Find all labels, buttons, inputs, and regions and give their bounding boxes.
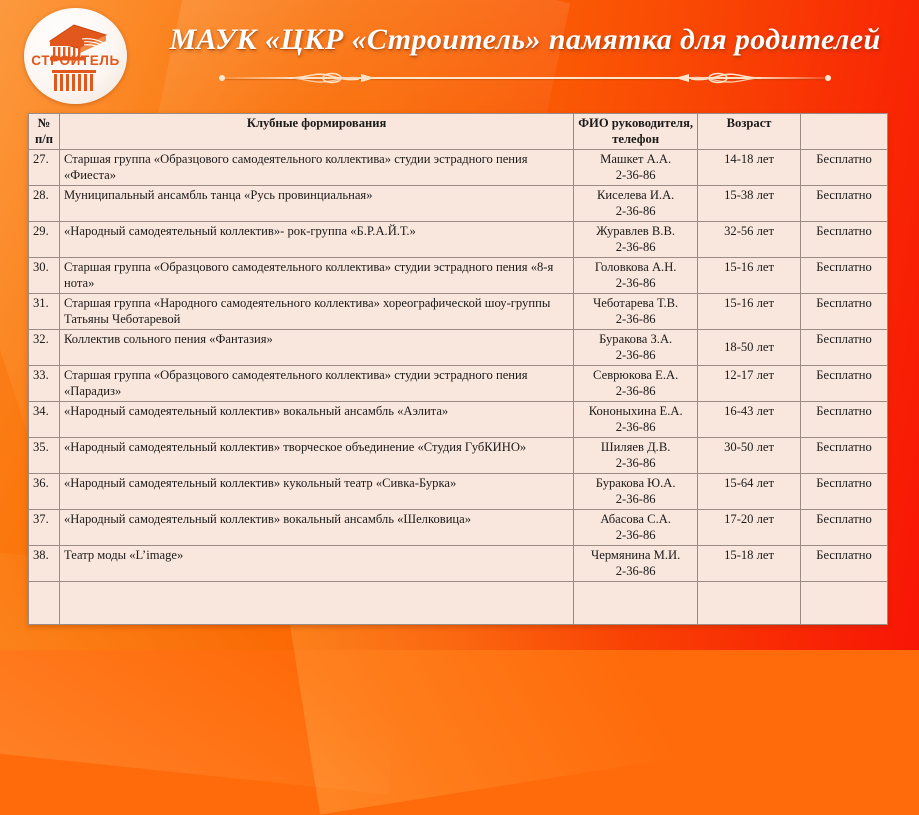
cell-leader: Машкет А.А.2-36-86 [574,150,698,186]
column-header-price [801,114,888,150]
cell-leader: Журавлев В.В.2-36-86 [574,222,698,258]
leader-name: Головкова А.Н. [578,260,693,276]
cell-age-range: 16-43 лет [698,402,801,438]
table-row: 27.Старшая группа «Образцового самодеяте… [29,150,888,186]
cell-club-name: «Народный самодеятельный коллектив» куко… [59,474,573,510]
cell-club-name: Старшая группа «Народного самодеятельног… [59,294,573,330]
table-row: 32.Коллектив сольного пения «Фантазия»Бу… [29,330,888,366]
leader-name: Машкет А.А. [578,152,693,168]
title-block: МАУК «ЦКР «Строитель» памятка для родите… [150,20,900,86]
leader-phone: 2-36-86 [578,456,693,472]
leader-name: Абасова С.А. [578,512,693,528]
table-body: 27.Старшая группа «Образцового самодеяте… [29,150,888,625]
cell-empty [698,582,801,625]
cell-leader: Шиляев Д.В.2-36-86 [574,438,698,474]
table-row: 28.Муниципальный ансамбль танца «Русь пр… [29,186,888,222]
flourish-ornament-right-icon [673,68,763,88]
cell-age-range: 12-17 лет [698,366,801,402]
cell-price-badge: Бесплатно [801,438,888,474]
table-row: 34.«Народный самодеятельный коллектив» в… [29,402,888,438]
table-row: 31.Старшая группа «Народного самодеятель… [29,294,888,330]
cell-club-name: Старшая группа «Образцового самодеятельн… [59,150,573,186]
table-row: 38.Театр моды «L’image»Чермянина М.И.2-3… [29,546,888,582]
cell-number: 33. [29,366,60,402]
cell-price-badge: Бесплатно [801,546,888,582]
column-header-leader-line2: телефон [578,132,693,148]
cell-price-badge: Бесплатно [801,366,888,402]
cell-number: 38. [29,546,60,582]
cell-club-name: Театр моды «L’image» [59,546,573,582]
cell-leader: Севрюкова Е.А.2-36-86 [574,366,698,402]
cell-age-range: 15-18 лет [698,546,801,582]
cell-number: 31. [29,294,60,330]
cell-number: 35. [29,438,60,474]
leader-name: Чеботарева Т.В. [578,296,693,312]
cell-age-range: 30-50 лет [698,438,801,474]
cell-age-range: 15-16 лет [698,294,801,330]
cell-price-badge: Бесплатно [801,474,888,510]
cell-club-name: Старшая группа «Образцового самодеятельн… [59,258,573,294]
slide-header: СТРОИТЕЛЬ МАУК «ЦКР «Строитель» памятка … [0,0,919,108]
leader-name: Буракова Ю.А. [578,476,693,492]
organization-logo: СТРОИТЕЛЬ [24,8,127,104]
leader-phone: 2-36-86 [578,564,693,580]
cell-number: 32. [29,330,60,366]
leader-phone: 2-36-86 [578,204,693,220]
cell-age-range: 32-56 лет [698,222,801,258]
table-row: 29.«Народный самодеятельный коллектив»- … [29,222,888,258]
clubs-table: № п/п Клубные формирования ФИО руководит… [28,113,888,625]
leader-phone: 2-36-86 [578,312,693,328]
leader-name: Чермянина М.И. [578,548,693,564]
leader-name: Журавлев В.В. [578,224,693,240]
cell-age-range: 18-50 лет [698,330,801,366]
table-row: 33.Старшая группа «Образцового самодеяте… [29,366,888,402]
cell-number: 29. [29,222,60,258]
table-row: 35.«Народный самодеятельный коллектив» т… [29,438,888,474]
cell-club-name: «Народный самодеятельный коллектив» вока… [59,510,573,546]
leader-phone: 2-36-86 [578,528,693,544]
cell-leader: Буракова Ю.А.2-36-86 [574,474,698,510]
leader-phone: 2-36-86 [578,420,693,436]
cell-leader: Абасова С.А.2-36-86 [574,510,698,546]
cell-club-name: «Народный самодеятельный коллектив» твор… [59,438,573,474]
leader-phone: 2-36-86 [578,240,693,256]
page-title: МАУК «ЦКР «Строитель» памятка для родите… [150,20,900,60]
column-header-club: Клубные формирования [59,114,573,150]
cell-price-badge: Бесплатно [801,330,888,366]
cell-age-range: 14-18 лет [698,150,801,186]
leader-name: Севрюкова Е.А. [578,368,693,384]
cell-leader: Головкова А.Н.2-36-86 [574,258,698,294]
column-header-leader: ФИО руководителя, телефон [574,114,698,150]
cell-number: 37. [29,510,60,546]
cell-leader: Кононыхина Е.А.2-36-86 [574,402,698,438]
cell-price-badge: Бесплатно [801,258,888,294]
cell-club-name: «Народный самодеятельный коллектив»- рок… [59,222,573,258]
cell-empty [574,582,698,625]
divider-dot-left [219,75,225,81]
cell-club-name: Коллектив сольного пения «Фантазия» [59,330,573,366]
cell-price-badge: Бесплатно [801,402,888,438]
leader-phone: 2-36-86 [578,168,693,184]
column-header-number-line2: п/п [33,132,55,148]
cell-club-name: «Народный самодеятельный коллектив» вока… [59,402,573,438]
cell-empty [29,582,60,625]
cell-price-badge: Бесплатно [801,150,888,186]
leader-phone: 2-36-86 [578,276,693,292]
table-row-empty [29,582,888,625]
cell-price-badge: Бесплатно [801,186,888,222]
clubs-table-container: № п/п Клубные формирования ФИО руководит… [28,113,888,625]
table-row: 37.«Народный самодеятельный коллектив» в… [29,510,888,546]
column-header-leader-line1: ФИО руководителя, [578,116,693,132]
table-row: 30.Старшая группа «Образцового самодеяте… [29,258,888,294]
flourish-ornament-left-icon [287,68,377,88]
cell-leader: Киселева И.А.2-36-86 [574,186,698,222]
leader-name: Шиляев Д.В. [578,440,693,456]
cell-leader: Чеботарева Т.В.2-36-86 [574,294,698,330]
column-header-number-line1: № [33,116,55,132]
leader-phone: 2-36-86 [578,348,693,364]
leader-name: Киселева И.А. [578,188,693,204]
cell-leader: Буракова З.А.2-36-86 [574,330,698,366]
divider-dot-right [825,75,831,81]
table-row: 36.«Народный самодеятельный коллектив» к… [29,474,888,510]
cell-age-range: 15-38 лет [698,186,801,222]
cell-empty [59,582,573,625]
cell-club-name: Старшая группа «Образцового самодеятельн… [59,366,573,402]
cell-club-name: Муниципальный ансамбль танца «Русь прови… [59,186,573,222]
leader-phone: 2-36-86 [578,492,693,508]
cell-price-badge: Бесплатно [801,294,888,330]
cell-number: 27. [29,150,60,186]
leader-name: Буракова З.А. [578,332,693,348]
cell-age-range: 15-16 лет [698,258,801,294]
cell-number: 30. [29,258,60,294]
cell-number: 36. [29,474,60,510]
cell-price-badge: Бесплатно [801,510,888,546]
cell-leader: Чермянина М.И.2-36-86 [574,546,698,582]
cell-number: 28. [29,186,60,222]
title-divider [215,70,835,86]
cell-number: 34. [29,402,60,438]
logo-wordmark: СТРОИТЕЛЬ [24,53,127,68]
cell-age-range: 15-64 лет [698,474,801,510]
leader-phone: 2-36-86 [578,384,693,400]
cell-price-badge: Бесплатно [801,222,888,258]
column-header-number: № п/п [29,114,60,150]
table-header-row: № п/п Клубные формирования ФИО руководит… [29,114,888,150]
cell-empty [801,582,888,625]
column-header-age: Возраст [698,114,801,150]
leader-name: Кононыхина Е.А. [578,404,693,420]
cell-age-range: 17-20 лет [698,510,801,546]
